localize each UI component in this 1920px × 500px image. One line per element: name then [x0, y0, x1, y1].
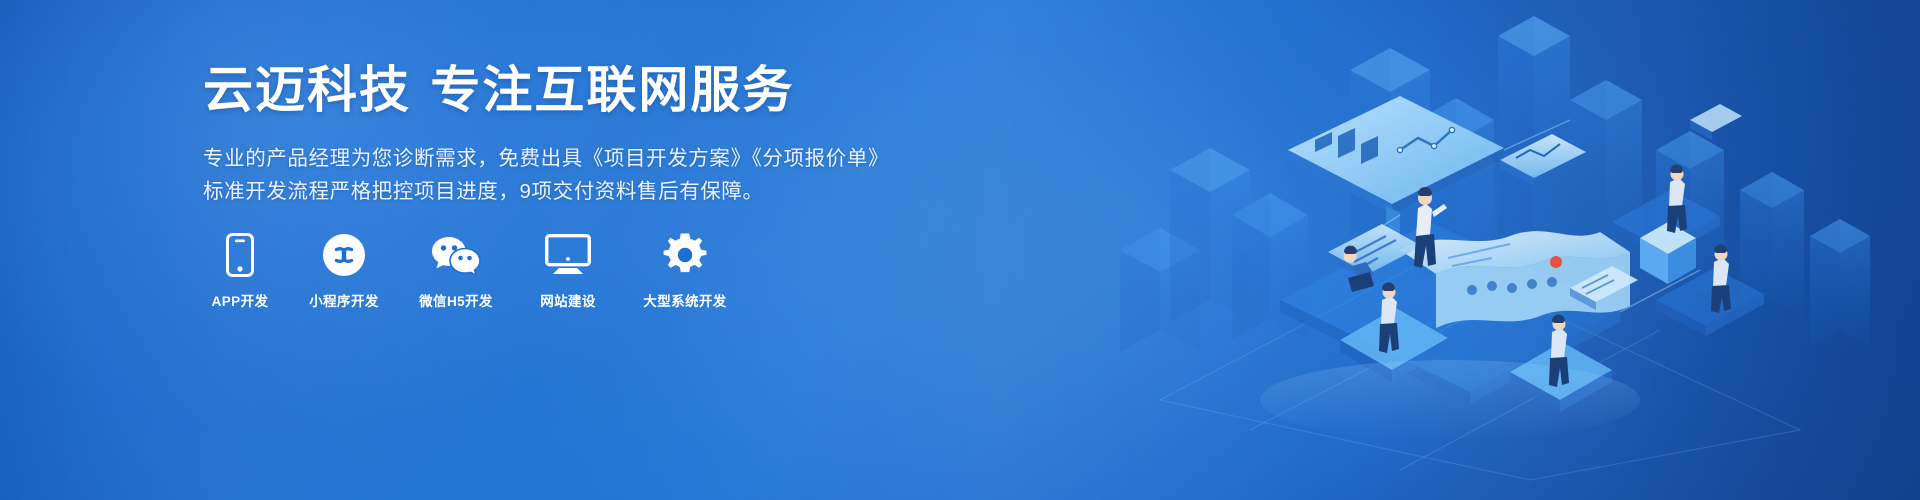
service-label: 网站建设 — [540, 290, 596, 310]
ground-grid — [1160, 258, 1800, 480]
pedestal-left — [1340, 308, 1448, 382]
subtitle-line-2: 标准开发流程严格把控项目进度，9项交付资料售后有保障。 — [203, 175, 1103, 208]
character-mid-right — [1711, 245, 1731, 313]
bar-chart-card — [1328, 224, 1422, 282]
service-label: APP开发 — [212, 290, 269, 310]
character-walking — [1379, 283, 1399, 354]
subtitle-line-1: 专业的产品经理为您诊断需求，免费出具《项目开发方案》《分项报价单》 — [203, 142, 1103, 175]
character-presenter — [1414, 187, 1447, 268]
character-standing-right — [1549, 315, 1569, 388]
service-label: 微信H5开发 — [419, 290, 493, 310]
service-list: APP开发 小程序开发 — [205, 232, 759, 310]
platform-slab-right — [1612, 190, 1764, 336]
line-chart-card — [1500, 134, 1586, 186]
floating-panel-small — [1570, 266, 1638, 310]
service-item-mini-program[interactable]: 小程序开发 — [301, 232, 387, 310]
mobile-phone-icon — [226, 232, 254, 278]
monitor-icon — [545, 232, 591, 278]
wechat-icon — [431, 232, 481, 278]
city-buildings-backdrop — [1120, 16, 1870, 352]
dashboard-screen — [1288, 96, 1504, 252]
pedestal-right — [1510, 342, 1612, 412]
service-item-wechat-h5[interactable]: 微信H5开发 — [413, 232, 499, 310]
hero-subtitle: 专业的产品经理为您诊断需求，免费出具《项目开发方案》《分项报价单》 标准开发流程… — [203, 142, 1103, 208]
illustration — [1100, 0, 1920, 500]
service-item-app[interactable]: APP开发 — [205, 232, 275, 310]
character-seated — [1344, 246, 1375, 292]
page-title: 云迈科技 专注互联网服务 — [203, 60, 1103, 120]
mini-program-icon — [322, 232, 366, 278]
document-sheet — [1400, 231, 1630, 328]
connector-lines — [1350, 120, 1700, 312]
floating-panel-tiny — [1690, 104, 1742, 140]
floating-cube — [1640, 222, 1696, 284]
gear-icon — [663, 232, 707, 278]
service-label: 小程序开发 — [309, 290, 379, 310]
platform-slab — [1280, 222, 1620, 404]
service-item-website[interactable]: 网站建设 — [525, 232, 611, 310]
character-upper-right — [1667, 165, 1687, 234]
hero-banner: 云迈科技 专注互联网服务 专业的产品经理为您诊断需求，免费出具《项目开发方案》《… — [0, 0, 1920, 500]
service-item-large-system[interactable]: 大型系统开发 — [637, 232, 733, 310]
hero-content: 云迈科技 专注互联网服务 专业的产品经理为您诊断需求，免费出具《项目开发方案》《… — [203, 60, 1103, 208]
service-label: 大型系统开发 — [643, 290, 726, 310]
